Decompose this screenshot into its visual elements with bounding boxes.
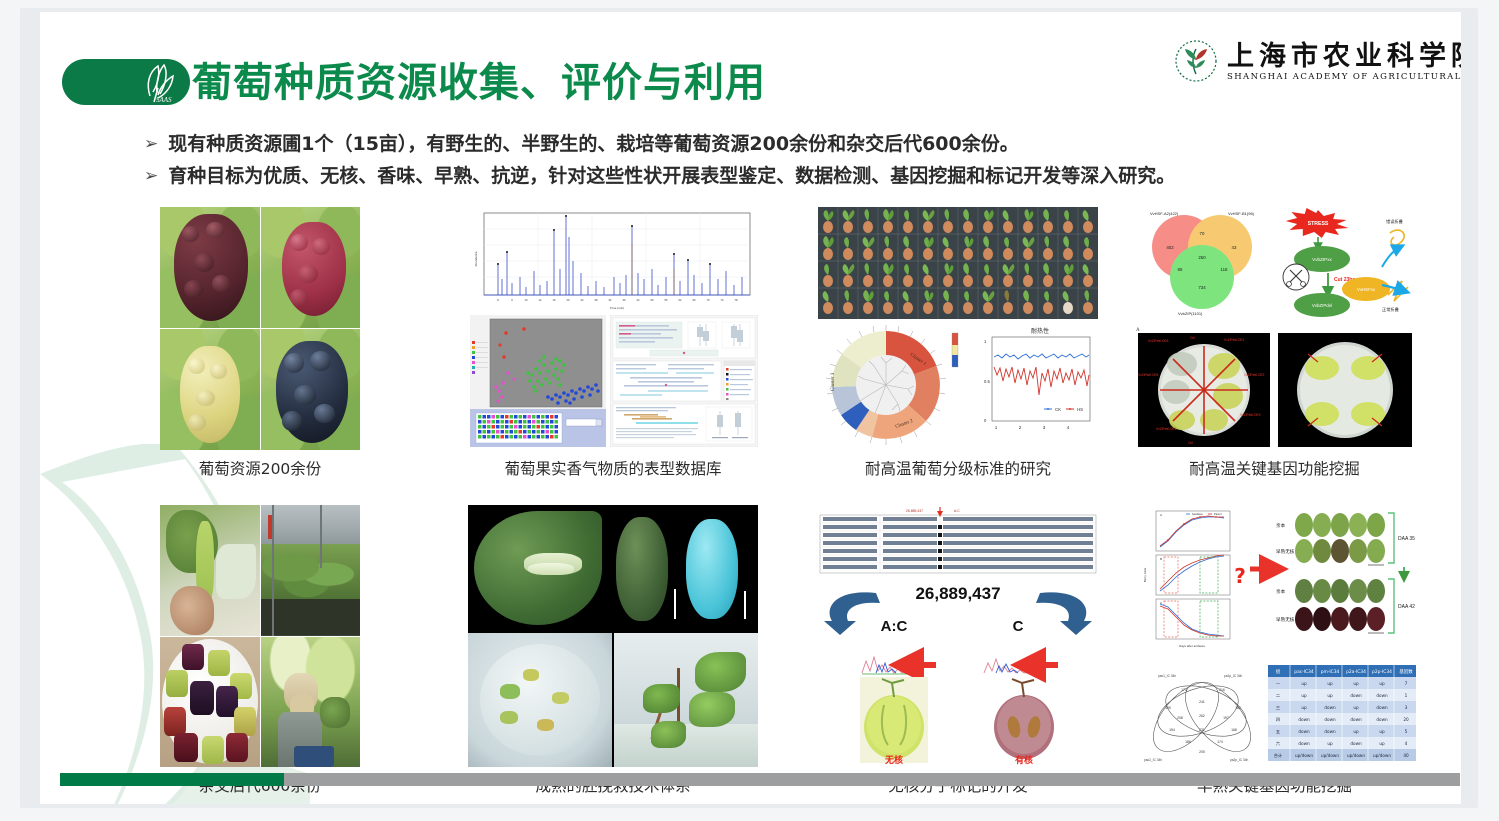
snp-position: 26,889,437 xyxy=(915,584,1000,603)
svg-text:24: 24 xyxy=(581,298,584,302)
svg-text:Seedless: Seedless xyxy=(1192,512,1203,516)
panel-embryo-rescue: 成熟的胚挽救技术体系 xyxy=(468,505,758,796)
td: down xyxy=(1324,717,1336,722)
venn-value: 70 xyxy=(1200,231,1205,236)
svg-text:262: 262 xyxy=(1199,714,1205,718)
svg-text:28: 28 xyxy=(595,298,598,302)
photo-grape-blue-black xyxy=(261,329,361,450)
td: up/down xyxy=(1373,753,1391,758)
heatmap-colorbar xyxy=(952,333,958,367)
photo-grape-pink-red xyxy=(261,207,361,328)
photo-grape-sample-plate xyxy=(160,637,260,768)
td: 1 xyxy=(1405,693,1408,698)
th: pm-IC34 xyxy=(1321,669,1340,675)
svg-text:Parent: Parent xyxy=(1214,512,1222,516)
cluster-label-3: Cluster 3 xyxy=(831,372,836,391)
gene-regulation-table: 组 pac-IC34 pm-IC34 p2a-IC34 p2p-IC34 基因数… xyxy=(1268,665,1416,767)
td: 四 xyxy=(1276,717,1280,722)
td: 六 xyxy=(1276,740,1280,747)
seedless-label: 无核 xyxy=(884,754,903,766)
venn-value: 402 xyxy=(1166,245,1174,250)
svg-text:74: 74 xyxy=(721,298,724,302)
svg-text:A: A xyxy=(1160,513,1162,517)
td: down xyxy=(1350,717,1362,722)
svg-text:66: 66 xyxy=(693,298,696,302)
row-label-parent: 亲本 xyxy=(1276,588,1286,595)
photo-grape-white-green xyxy=(160,329,260,450)
td: down xyxy=(1376,693,1388,698)
panel-caption: 耐高温关键基因功能挖掘 xyxy=(1132,457,1417,479)
venn-value: 250 xyxy=(1198,255,1206,260)
td: 五 xyxy=(1276,729,1280,734)
allele-left: A:C xyxy=(881,618,908,635)
row-label-seedless: 早熟无核 xyxy=(1276,616,1295,623)
svg-text:12: 12 xyxy=(539,298,542,302)
svg-text:154: 154 xyxy=(1169,728,1175,732)
svg-text:VvZIPdel-OE4: VvZIPdel-OE4 xyxy=(1156,427,1177,431)
td: up xyxy=(1379,729,1385,734)
td: 合计 xyxy=(1274,752,1282,759)
td: 一 xyxy=(1276,681,1280,686)
svg-text:VvZIPdel-OE6: VvZIPdel-OE6 xyxy=(1148,339,1169,343)
svg-text:216: 216 xyxy=(1219,688,1225,692)
berry-stage-42: 亲本 早熟无核 xyxy=(1276,579,1415,633)
td: down xyxy=(1376,717,1388,722)
chromatogram-xlabel: Time (min) xyxy=(610,306,624,310)
panel-heat-tolerance-grading: Cluster 1 Cluster 2 Cluster 3 xyxy=(818,207,1098,479)
svg-text:9: 9 xyxy=(511,298,513,302)
td: up xyxy=(1327,681,1333,686)
td: up xyxy=(1379,741,1385,746)
legend-ck: CK xyxy=(1055,407,1061,412)
figure-image xyxy=(160,207,360,450)
photo-ovule-gus-stain xyxy=(686,519,738,619)
four-set-venn-diagram: 173216 195241182 208262197 154231168 186… xyxy=(1136,665,1266,765)
panel-caption: 葡萄果实香气物质的表型数据库 xyxy=(468,457,758,479)
td: down xyxy=(1376,705,1388,710)
chart-title: 耐热性 xyxy=(1031,327,1049,335)
td: up xyxy=(1327,741,1333,746)
stage-label-daa42: DAA 42 xyxy=(1398,604,1415,610)
svg-text:pac1_IC 34h: pac1_IC 34h xyxy=(1158,674,1176,678)
berry-stage-35: 亲本 早熟无核 xyxy=(1276,513,1415,563)
stage-label-daa35: DAA 35 xyxy=(1398,536,1415,542)
svg-text:62: 62 xyxy=(679,298,682,302)
svg-text:208: 208 xyxy=(1177,716,1183,720)
bullet-text: 现有种质资源圃1个（15亩），有野生的、半野生的、栽培等葡萄资源200余份和杂交… xyxy=(168,130,1018,158)
venn-value: 734 xyxy=(1198,285,1206,290)
td: 3 xyxy=(1405,705,1408,710)
database-ui-mock xyxy=(610,315,758,447)
figure-image: 402 70 43 85 250 118 734 VvHSF-A2(422) V… xyxy=(1132,207,1417,450)
td: up xyxy=(1301,693,1307,698)
td: up xyxy=(1301,705,1307,710)
panel-letter: A xyxy=(1136,328,1140,333)
page-title: 葡萄种质资源收集、评价与利用 xyxy=(192,60,766,106)
td: down xyxy=(1324,705,1336,710)
td: up xyxy=(1353,729,1359,734)
svg-text:Berry traits: Berry traits xyxy=(1143,567,1147,582)
svg-text:1: 1 xyxy=(984,339,987,344)
org-name-cn: 上海市农业科学院 xyxy=(1227,34,1461,73)
td: 二 xyxy=(1276,693,1280,698)
footer-bar-gray xyxy=(284,773,1460,786)
td: down xyxy=(1350,693,1362,698)
svg-text:186: 186 xyxy=(1185,740,1191,744)
slide-header: SAAS 葡萄种质资源收集、评价与利用 上海市农业科学院 SHANGHAI AC… xyxy=(40,12,1461,122)
photo-flower-cluster xyxy=(160,505,260,636)
venn-set-label: VvHSF-A2(422) xyxy=(1150,211,1179,216)
td: down xyxy=(1324,729,1336,734)
td: down xyxy=(1298,729,1310,734)
figure-image xyxy=(160,505,360,767)
slide-canvas: SAAS 葡萄种质资源收集、评价与利用 上海市农业科学院 SHANGHAI AC… xyxy=(0,0,1499,821)
bullet-arrow-icon: ➢ xyxy=(144,162,158,190)
td: 7 xyxy=(1405,681,1408,686)
allele-split-diagram: 26,889,437 A:C C xyxy=(818,577,1098,647)
stress-label: STRESS xyxy=(1308,221,1329,227)
svg-text:56: 56 xyxy=(665,298,668,302)
protein-label-mid: VvHSFxx xyxy=(1357,287,1376,292)
svg-text:168: 168 xyxy=(1231,728,1237,732)
svg-text:VvZIPdel-OE1: VvZIPdel-OE1 xyxy=(1224,338,1245,342)
row-label-parent: 亲本 xyxy=(1276,522,1286,529)
svg-text:pa1p_IC 34h: pa1p_IC 34h xyxy=(1224,674,1242,678)
td: 5 xyxy=(1405,729,1408,734)
yeast-assay-photos: A xyxy=(1132,324,1417,450)
bullet-item: ➢ 现有种质资源圃1个（15亩），有野生的、半野生的、栽培等葡萄资源200余份和… xyxy=(144,130,1434,158)
circular-dendrogram-chart: Cluster 1 Cluster 2 Cluster 3 xyxy=(818,323,968,449)
chromatogram-chart: 8910 121620 242832 364450 566266 707478 … xyxy=(468,207,758,313)
protein-label-bottom: VvbZIPdel xyxy=(1312,303,1332,308)
td: 20 xyxy=(1403,717,1409,722)
venn-and-pathway-diagram: 402 70 43 85 250 118 734 VvHSF-A2(422) V… xyxy=(1132,207,1417,323)
svg-text:182: 182 xyxy=(1235,706,1241,710)
svg-text:36: 36 xyxy=(623,298,626,302)
td: down xyxy=(1350,741,1362,746)
photo-culture-dish xyxy=(468,633,612,767)
svg-text:197: 197 xyxy=(1223,716,1229,720)
svg-text:205: 205 xyxy=(1199,750,1205,754)
alignment-allele-label: A:C xyxy=(954,509,960,513)
xtick: 1 xyxy=(995,425,998,430)
venn-value: 85 xyxy=(1178,267,1183,272)
td: up xyxy=(1353,681,1359,686)
td: up/down xyxy=(1295,753,1313,758)
xtick: 4 xyxy=(1067,425,1070,430)
organization-logo: 上海市农业科学院 SHANGHAI ACADEMY OF AGRICULTURA… xyxy=(1173,34,1441,92)
svg-text:231: 231 xyxy=(1199,728,1205,732)
venn-value: 43 xyxy=(1232,245,1237,250)
svg-text:44: 44 xyxy=(637,298,640,302)
figure-image: 8910 121620 242832 364450 566266 707478 … xyxy=(468,207,758,450)
svg-text:Ctrl: Ctrl xyxy=(1190,336,1195,340)
td: down xyxy=(1298,741,1310,746)
td: 4 xyxy=(1405,741,1408,746)
panel-early-ripening-gene: A Seedless Parent B xyxy=(1132,505,1417,796)
svg-text:0.5: 0.5 xyxy=(984,379,990,384)
panel-caption: 耐高温葡萄分级标准的研究 xyxy=(818,457,1098,479)
figure-image: Cluster 1 Cluster 2 Cluster 3 xyxy=(818,207,1098,450)
svg-text:32: 32 xyxy=(609,298,612,302)
photo-vineyard-greenhouse xyxy=(261,505,361,636)
svg-text:Ctrl: Ctrl xyxy=(1188,441,1193,445)
venn-set-label: VvHSF-B1(96) xyxy=(1228,211,1255,216)
saas-leaf-logo-icon: SAAS xyxy=(136,62,180,104)
panel-aroma-phenotype-db: 8910 121620 242832 364450 566266 707478 … xyxy=(468,207,758,479)
row-label-seedless: 早熟无核 xyxy=(1276,548,1295,555)
panel-hybrid-progeny: 杂交后代600余份 xyxy=(160,505,360,796)
bullet-text: 育种目标为优质、无核、香味、早熟、抗逆，针对这些性状开展表型鉴定、数据检测、基因… xyxy=(168,162,1175,190)
protein-label-top: VvbZIPxx xyxy=(1312,257,1332,262)
svg-text:78: 78 xyxy=(735,298,738,302)
panel-seedless-marker: 26,889,437 A:C xyxy=(818,505,1098,796)
alignment-position-label: 26,889,437 xyxy=(906,509,923,513)
xtick: 2 xyxy=(1019,425,1022,430)
figure-image: 26,889,437 A:C xyxy=(818,505,1098,767)
svg-text:173: 173 xyxy=(1181,688,1187,692)
svg-text:B: B xyxy=(1160,557,1162,561)
sanger-and-fruit-figure: 无核 有核 xyxy=(818,647,1098,767)
svg-text:174: 174 xyxy=(1217,740,1223,744)
photo-ovule-green xyxy=(616,517,668,621)
svg-text:pac2_IC 34h: pac2_IC 34h xyxy=(1144,758,1162,762)
bullet-list: ➢ 现有种质资源圃1个（15亩），有野生的、半野生的、栽培等葡萄资源200余份和… xyxy=(144,130,1434,194)
allele-right: C xyxy=(1013,618,1024,635)
svg-text:50: 50 xyxy=(651,298,654,302)
svg-text:VvZIPdel-OE5: VvZIPdel-OE5 xyxy=(1138,373,1159,377)
panel-caption: 葡萄资源200余份 xyxy=(160,457,360,479)
berry-development-figure: A Seedless Parent B xyxy=(1132,505,1417,663)
svg-text:20: 20 xyxy=(567,298,570,302)
chromatogram-ylabel: Abundance xyxy=(474,251,478,267)
svg-text:pa2p_IC 34h: pa2p_IC 34h xyxy=(1230,758,1248,762)
figure-image xyxy=(468,505,758,767)
potted-plant-grid xyxy=(818,207,1098,319)
th: 组 xyxy=(1276,668,1281,675)
td: up xyxy=(1301,681,1307,686)
seeded-label: 有核 xyxy=(1015,754,1033,766)
heat-tolerance-line-chart: 耐热性 10.50 1 2 3 4 xyxy=(970,323,1098,449)
fold-normal-label: 错误折叠 xyxy=(1386,218,1403,225)
question-mark: ? xyxy=(1234,564,1246,588)
footer-bar-green xyxy=(60,773,284,786)
th: p2p-IC34 xyxy=(1372,669,1392,675)
footer-bar xyxy=(60,773,1460,786)
bullet-item: ➢ 育种目标为优质、无核、香味、早熟、抗逆，针对这些性状开展表型鉴定、数据检测、… xyxy=(144,162,1434,190)
photo-in-vitro-plantlet xyxy=(614,633,758,767)
saas-seal-icon xyxy=(1173,38,1219,84)
th: 基因数 xyxy=(1399,668,1413,675)
legend-hs: HS xyxy=(1077,407,1083,412)
venn-value: 118 xyxy=(1221,267,1229,272)
svg-text:VvZIPdel-OE3: VvZIPdel-OE3 xyxy=(1240,413,1261,417)
td: up xyxy=(1379,681,1385,686)
svg-text:SAAS: SAAS xyxy=(156,96,172,104)
svg-text:0: 0 xyxy=(984,418,987,423)
bullet-arrow-icon: ➢ xyxy=(144,130,158,158)
photo-grape-dark-red xyxy=(160,207,260,328)
svg-text:Days after anthesis: Days after anthesis xyxy=(1179,644,1205,648)
svg-text:16: 16 xyxy=(553,298,556,302)
td: up/down xyxy=(1321,753,1339,758)
panel-grape-resources: 葡萄资源200余份 xyxy=(160,207,360,479)
svg-text:70: 70 xyxy=(707,298,710,302)
td: up xyxy=(1327,693,1333,698)
td: up xyxy=(1353,705,1359,710)
td: up/down xyxy=(1347,753,1365,758)
venn-set-label: VvbZIP(1101) xyxy=(1178,311,1203,316)
pca-scatter-chart xyxy=(470,315,606,447)
td: down xyxy=(1298,717,1310,722)
svg-text:VvZIPdel-OE2: VvZIPdel-OE2 xyxy=(1244,373,1265,377)
svg-text:10: 10 xyxy=(525,298,528,302)
org-name-en: SHANGHAI ACADEMY OF AGRICULTURAL SCIENCE… xyxy=(1227,72,1461,82)
figure-grid: 葡萄资源200余份 xyxy=(150,207,1410,792)
svg-text:195: 195 xyxy=(1165,706,1171,710)
td: 三 xyxy=(1276,705,1280,710)
xtick: 3 xyxy=(1043,425,1046,430)
slide: SAAS 葡萄种质资源收集、评价与利用 上海市农业科学院 SHANGHAI AC… xyxy=(40,12,1461,804)
th: pac-IC34 xyxy=(1294,669,1314,675)
svg-text:8: 8 xyxy=(497,298,499,302)
td: 40 xyxy=(1403,753,1409,758)
panel-heat-key-gene: 402 70 43 85 250 118 734 VvHSF-A2(422) V… xyxy=(1132,207,1417,479)
photo-researcher-in-vineyard xyxy=(261,637,361,768)
th: p2a-IC34 xyxy=(1346,669,1366,675)
sequence-alignment-view: 26,889,437 A:C xyxy=(818,505,1098,577)
figure-image: A Seedless Parent B xyxy=(1132,505,1417,767)
fold-correct-label: 正常折叠 xyxy=(1382,306,1399,313)
svg-text:241: 241 xyxy=(1199,700,1205,704)
